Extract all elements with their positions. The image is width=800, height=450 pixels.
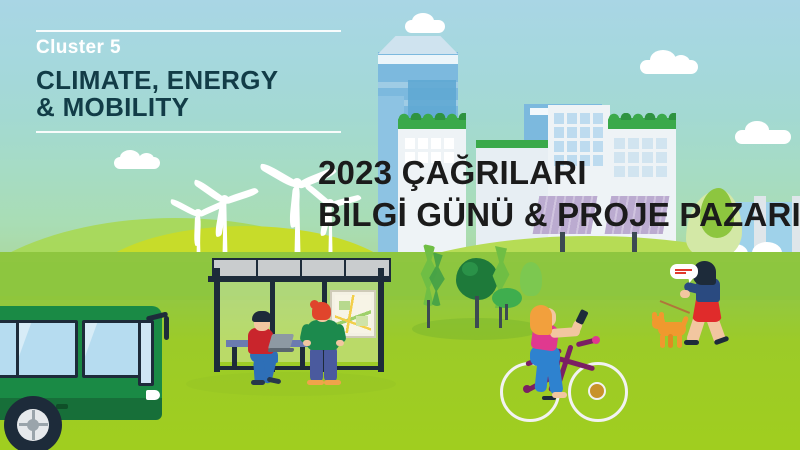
hair-bun — [310, 300, 319, 309]
hair — [252, 311, 272, 322]
poster-canvas: Cluster 5 CLIMATE, ENERGY & MOBILITY 202… — [0, 0, 800, 450]
tree-trunk — [427, 300, 430, 328]
cluster-kicker: Cluster 5 — [36, 38, 121, 57]
bus-window — [16, 320, 78, 378]
shelter-post — [378, 268, 384, 372]
rider-foot — [552, 392, 567, 398]
tree-small-far-right — [520, 262, 542, 296]
solar-panel-stand — [632, 232, 637, 254]
laptop-icon — [268, 334, 294, 349]
main-title-line1: 2023 ÇAĞRILARI — [318, 152, 587, 193]
header-rule-top — [36, 30, 341, 32]
bench-leg — [232, 347, 237, 369]
message-bubble-lines — [675, 269, 692, 271]
tree-trunk — [475, 296, 479, 328]
person-standing-green — [300, 300, 350, 388]
dog-ear — [652, 312, 657, 319]
message-bubble-lines — [675, 272, 686, 274]
phone-icon — [575, 309, 588, 325]
shelter-post — [214, 268, 220, 372]
bike-hub-front — [588, 382, 606, 400]
bicycle-with-rider — [496, 300, 626, 422]
bus-window — [82, 320, 142, 378]
rider-hair — [530, 305, 552, 335]
cluster-title-line1: CLIMATE, ENERGY — [36, 66, 278, 94]
tree-round-center-highlight — [462, 262, 478, 276]
dog-ear — [659, 312, 664, 319]
person-with-laptop — [240, 310, 296, 380]
dog-tail — [680, 316, 689, 329]
header-rule-bottom — [36, 131, 341, 133]
building-greenroof-right — [608, 118, 676, 256]
dog — [650, 312, 698, 352]
bus-vehicle — [0, 298, 186, 443]
cluster-title-line2: & MOBILITY — [36, 93, 189, 121]
main-title-line2: BİLGİ GÜNÜ & PROJE PAZARI — [318, 194, 800, 235]
solar-panel-stand — [560, 232, 565, 254]
